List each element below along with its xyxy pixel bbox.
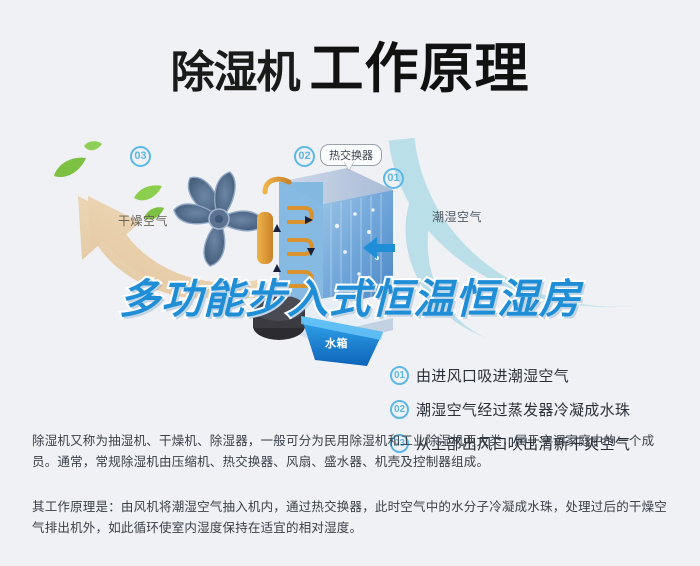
callout-tail-icon <box>344 161 354 170</box>
list-item: 02 潮湿空气经过蒸发器冷凝成水珠 <box>390 392 690 426</box>
legend-badge-02: 02 <box>390 400 409 419</box>
marker-01-humid-air: 01 <box>383 168 404 189</box>
body-paragraph-1: 除湿机又称为抽湿机、干燥机、除湿器，一般可分为民用除湿机和工业除湿机两大类，属于… <box>32 431 672 473</box>
label-humid-air: 潮湿空气 <box>432 208 482 225</box>
list-item: 01 由进风口吸进潮湿空气 <box>390 358 690 392</box>
marker-03-dry-air: 03 <box>130 146 151 167</box>
leaf-icon-group <box>44 138 114 198</box>
dehumidifier-diagram: 干燥空气 潮湿空气 水箱 热交换器 03 02 01 01 由进风口吸进潮湿空气… <box>0 120 700 400</box>
page-title-part2: 工作原理 <box>310 39 530 99</box>
marker-02-heat-exchanger: 02 <box>294 146 315 167</box>
label-dry-air: 干燥空气 <box>118 212 168 229</box>
legend-text-02: 潮湿空气经过蒸发器冷凝成水珠 <box>416 399 630 420</box>
label-water-tank: 水箱 <box>325 335 348 351</box>
page-root: 除湿机工作原理 <box>0 0 700 566</box>
overlay-headline: 多功能步入式恒温恒湿房 <box>0 265 700 325</box>
legend-text-01: 由进风口吸进潮湿空气 <box>416 365 569 386</box>
page-title-part1: 除湿机 <box>171 48 300 97</box>
page-title: 除湿机工作原理 <box>0 24 700 103</box>
body-paragraph-2: 其工作原理是：由风机将潮湿空气抽入机内，通过热交换器，此时空气中的水分子冷凝成水… <box>32 497 672 539</box>
dehumidifier-unit-illustration <box>243 140 403 370</box>
legend-badge-01: 01 <box>390 366 409 385</box>
